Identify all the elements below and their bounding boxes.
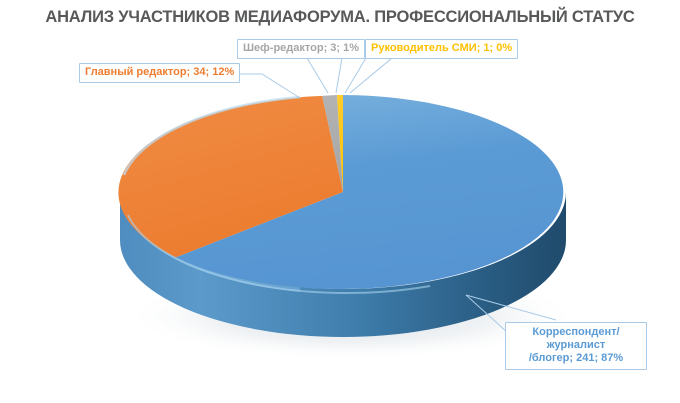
leader-line-media-head <box>345 58 366 93</box>
leader-line-chief-editor-2 <box>336 58 342 93</box>
data-label-editor-in-chief[interactable]: Главный редактор; 34; 12% <box>79 63 240 83</box>
leader-line-chief-editor <box>307 58 328 93</box>
data-label-correspondent-line2: /блогер; 241; 87% <box>510 352 642 365</box>
pie-chart-figure: АНАЛИЗ УЧАСТНИКОВ МЕДИАФОРУМА. ПРОФЕССИО… <box>0 0 680 403</box>
data-label-correspondent[interactable]: Корреспондент/журналист /блогер; 241; 87… <box>505 322 647 370</box>
data-label-chief-editor[interactable]: Шеф-редактор; 3; 1% <box>237 39 365 59</box>
data-label-media-head[interactable]: Руководитель СМИ; 1; 0% <box>365 39 518 59</box>
data-label-correspondent-line1: Корреспондент/журналист <box>510 326 642 352</box>
leader-line-media-head-2 <box>350 58 392 93</box>
